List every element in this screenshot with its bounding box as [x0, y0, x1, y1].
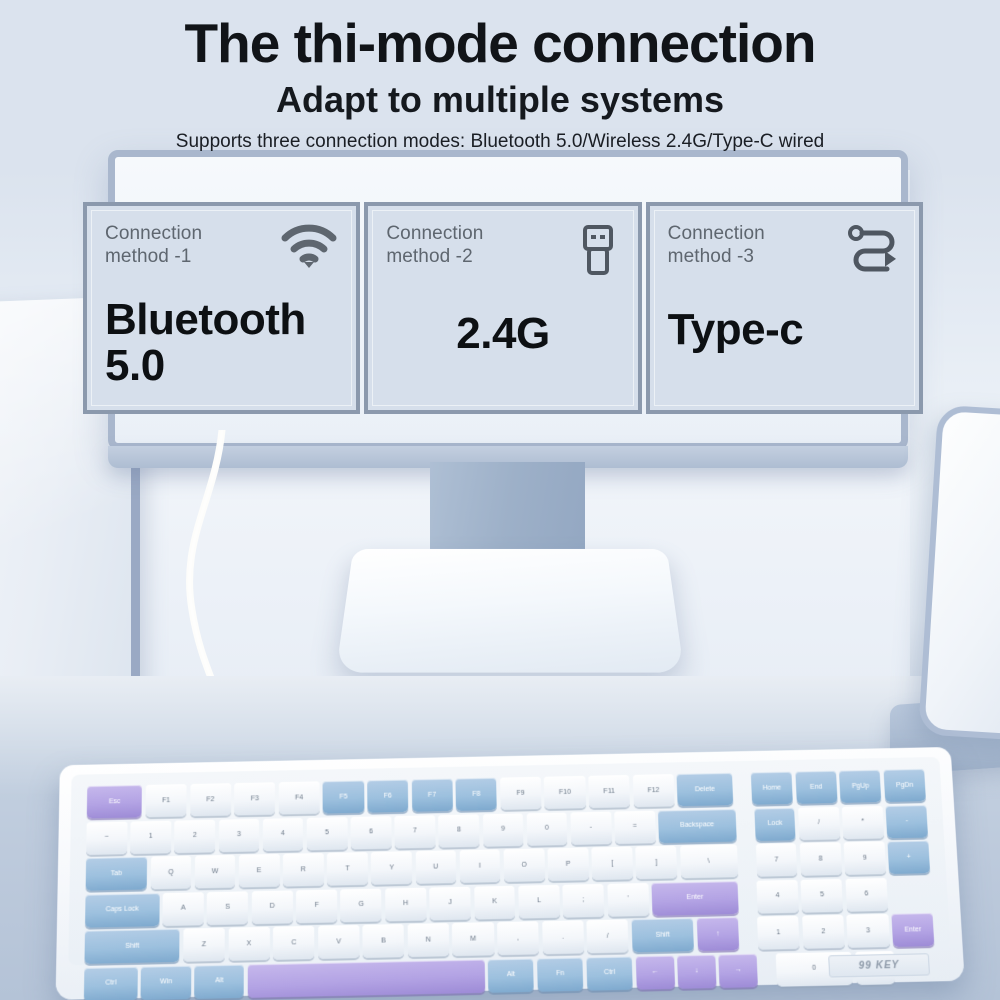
- keycap[interactable]: K: [474, 885, 516, 919]
- keycap[interactable]: 4: [263, 817, 304, 850]
- keycap[interactable]: +: [888, 840, 930, 874]
- keycap[interactable]: C: [273, 926, 314, 960]
- keycap[interactable]: F7: [411, 779, 452, 812]
- card-header: Connection method -3: [668, 222, 901, 279]
- keycap[interactable]: .: [542, 920, 584, 954]
- keycap[interactable]: ,: [497, 921, 539, 955]
- keycap[interactable]: ]: [636, 846, 678, 880]
- key-spacer: [890, 877, 933, 911]
- keycap[interactable]: 5: [307, 817, 348, 850]
- keycap[interactable]: 2: [802, 915, 845, 949]
- keycap[interactable]: Win: [141, 965, 191, 999]
- keycap[interactable]: F1: [145, 784, 186, 817]
- keyboard-case: EscF1F2F3F4F5F6F7F8F9F10F11F12DeleteHome…: [56, 747, 965, 1000]
- card-label: Connection method -2: [386, 222, 483, 268]
- keycap[interactable]: End: [795, 771, 837, 804]
- keycap[interactable]: Backspace: [658, 809, 736, 843]
- keycap[interactable]: M: [452, 922, 494, 956]
- keycap[interactable]: Caps Lock: [85, 893, 159, 928]
- key-spacer: [741, 880, 755, 913]
- keycap[interactable]: PgDn: [883, 769, 926, 802]
- keycap[interactable]: 2: [174, 819, 215, 852]
- keycap[interactable]: W: [195, 855, 236, 889]
- keycap[interactable]: V: [318, 925, 360, 959]
- keycap[interactable]: S: [207, 891, 248, 925]
- keycap[interactable]: Ctrl: [586, 956, 633, 990]
- keycap[interactable]: L: [518, 884, 560, 918]
- key-spacer: [740, 844, 754, 877]
- keycap[interactable]: G: [341, 888, 382, 922]
- keycap[interactable]: PgUp: [839, 770, 881, 803]
- keycap[interactable]: [248, 959, 485, 997]
- keycap[interactable]: Q: [150, 856, 191, 890]
- keycap[interactable]: Alt: [194, 964, 244, 998]
- monitor-stand-base: [336, 549, 684, 673]
- keycap[interactable]: X: [228, 927, 269, 961]
- connection-card-24g: Connection method -2 2.4G: [364, 202, 641, 414]
- page-description: Supports three connection modes: Bluetoo…: [0, 131, 1000, 153]
- keycap[interactable]: ': [607, 883, 649, 917]
- keycap[interactable]: 6: [351, 816, 392, 849]
- keyboard-plate: EscF1F2F3F4F5F6F7F8F9F10F11F12DeleteHome…: [68, 757, 950, 965]
- card-label: Connection method -3: [668, 222, 765, 268]
- keycap[interactable]: 8: [800, 842, 842, 876]
- connection-card-typec: Connection method -3 Type-c: [646, 202, 923, 414]
- keycap[interactable]: F10: [544, 776, 586, 809]
- keycap[interactable]: 3: [847, 914, 890, 948]
- keycap[interactable]: R: [283, 853, 324, 887]
- keycap[interactable]: F: [296, 889, 337, 923]
- keycap[interactable]: -: [570, 811, 611, 844]
- keycap[interactable]: →: [719, 953, 759, 987]
- keycap[interactable]: N: [407, 923, 449, 957]
- key-spacer: [738, 808, 752, 841]
- keycap[interactable]: E: [239, 854, 280, 888]
- wifi-signal-icon: [280, 224, 338, 275]
- keycap[interactable]: Ctrl: [84, 966, 138, 1000]
- smartphone-device: [918, 405, 1000, 742]
- headline-block: The thi-mode connection Adapt to multipl…: [0, 0, 1000, 153]
- keycap[interactable]: Fn: [537, 957, 584, 991]
- card-value: 2.4G: [386, 311, 619, 357]
- keycap[interactable]: U: [415, 850, 456, 884]
- keycap[interactable]: Delete: [677, 773, 733, 806]
- keycap[interactable]: F3: [234, 782, 275, 815]
- page-title: The thi-mode connection: [0, 14, 1000, 73]
- keycap[interactable]: ↓: [677, 954, 716, 988]
- keycap[interactable]: F11: [588, 775, 630, 808]
- keycap[interactable]: F6: [367, 780, 408, 813]
- keycap[interactable]: 5: [801, 878, 844, 912]
- keycap[interactable]: Lock: [754, 807, 796, 840]
- keycap[interactable]: Z: [183, 928, 225, 962]
- keycap[interactable]: F9: [500, 777, 542, 810]
- keycap[interactable]: \: [680, 844, 738, 878]
- keycap[interactable]: Shift: [631, 918, 694, 952]
- keycap[interactable]: F5: [323, 780, 364, 813]
- keycap[interactable]: 1: [757, 916, 800, 950]
- usb-dongle-icon: [576, 224, 620, 281]
- keycap[interactable]: Enter: [651, 881, 738, 916]
- keycap[interactable]: 7: [756, 843, 798, 877]
- keycap[interactable]: 9: [844, 841, 886, 875]
- keycap[interactable]: ~: [86, 821, 127, 854]
- keycap[interactable]: 9: [482, 813, 523, 846]
- keycap[interactable]: 1: [130, 820, 171, 853]
- keycap[interactable]: 0: [526, 812, 567, 845]
- keycap[interactable]: -: [886, 805, 928, 838]
- keycap[interactable]: [: [592, 847, 634, 881]
- connection-methods-row: Connection method -1 Bluetooth 5.0 Conne…: [83, 202, 923, 414]
- keycap[interactable]: O: [503, 848, 544, 882]
- keycap[interactable]: Enter: [891, 913, 934, 947]
- keycap[interactable]: 3: [219, 818, 260, 851]
- card-header: Connection method -1: [105, 222, 338, 275]
- keycap[interactable]: /: [798, 806, 840, 839]
- connection-card-bluetooth: Connection method -1 Bluetooth 5.0: [83, 202, 360, 414]
- keycap[interactable]: Alt: [488, 958, 535, 992]
- key-spacer: [760, 953, 773, 987]
- keycap[interactable]: ;: [563, 883, 605, 917]
- keycap[interactable]: =: [614, 810, 656, 843]
- keycap[interactable]: Shift: [84, 929, 180, 964]
- keycap[interactable]: Y: [371, 851, 412, 885]
- key-spacer: [735, 773, 749, 806]
- keycount-badge: 99 KEY: [828, 953, 930, 977]
- card-header: Connection method -2: [386, 222, 619, 281]
- keycap[interactable]: Esc: [87, 785, 143, 818]
- keycap[interactable]: B: [363, 924, 405, 958]
- card-label: Connection method -1: [105, 222, 202, 268]
- keycap[interactable]: 7: [395, 815, 436, 848]
- keycap[interactable]: I: [459, 849, 500, 883]
- keycap[interactable]: J: [429, 886, 470, 920]
- keycap[interactable]: F12: [633, 774, 675, 807]
- keycap[interactable]: 8: [438, 814, 479, 847]
- keycap[interactable]: F8: [456, 778, 497, 811]
- keycap[interactable]: T: [327, 852, 368, 886]
- keycap[interactable]: Home: [751, 772, 793, 805]
- key-spacer: [741, 917, 755, 950]
- page-subtitle: Adapt to multiple systems: [0, 79, 1000, 121]
- keycap[interactable]: *: [842, 805, 884, 838]
- keycap[interactable]: ←: [635, 955, 674, 989]
- card-value: Type-c: [668, 307, 901, 353]
- cable-arrow-icon: [847, 224, 901, 279]
- keycap[interactable]: /: [587, 919, 629, 953]
- keycap[interactable]: Tab: [86, 857, 147, 891]
- keycap[interactable]: P: [547, 848, 588, 882]
- keycap[interactable]: 4: [756, 879, 798, 913]
- keycap[interactable]: F4: [279, 781, 320, 814]
- keycap[interactable]: D: [252, 890, 293, 924]
- keycap[interactable]: A: [162, 892, 203, 926]
- keycap[interactable]: 6: [845, 878, 888, 912]
- keycap[interactable]: ↑: [697, 917, 740, 951]
- keycap[interactable]: H: [385, 887, 426, 921]
- keycap-grid: EscF1F2F3F4F5F6F7F8F9F10F11F12DeleteHome…: [84, 769, 937, 1000]
- keycap[interactable]: F2: [190, 783, 231, 816]
- keyboard-product: EscF1F2F3F4F5F6F7F8F9F10F11F12DeleteHome…: [0, 740, 1000, 1000]
- card-value: Bluetooth 5.0: [105, 297, 338, 389]
